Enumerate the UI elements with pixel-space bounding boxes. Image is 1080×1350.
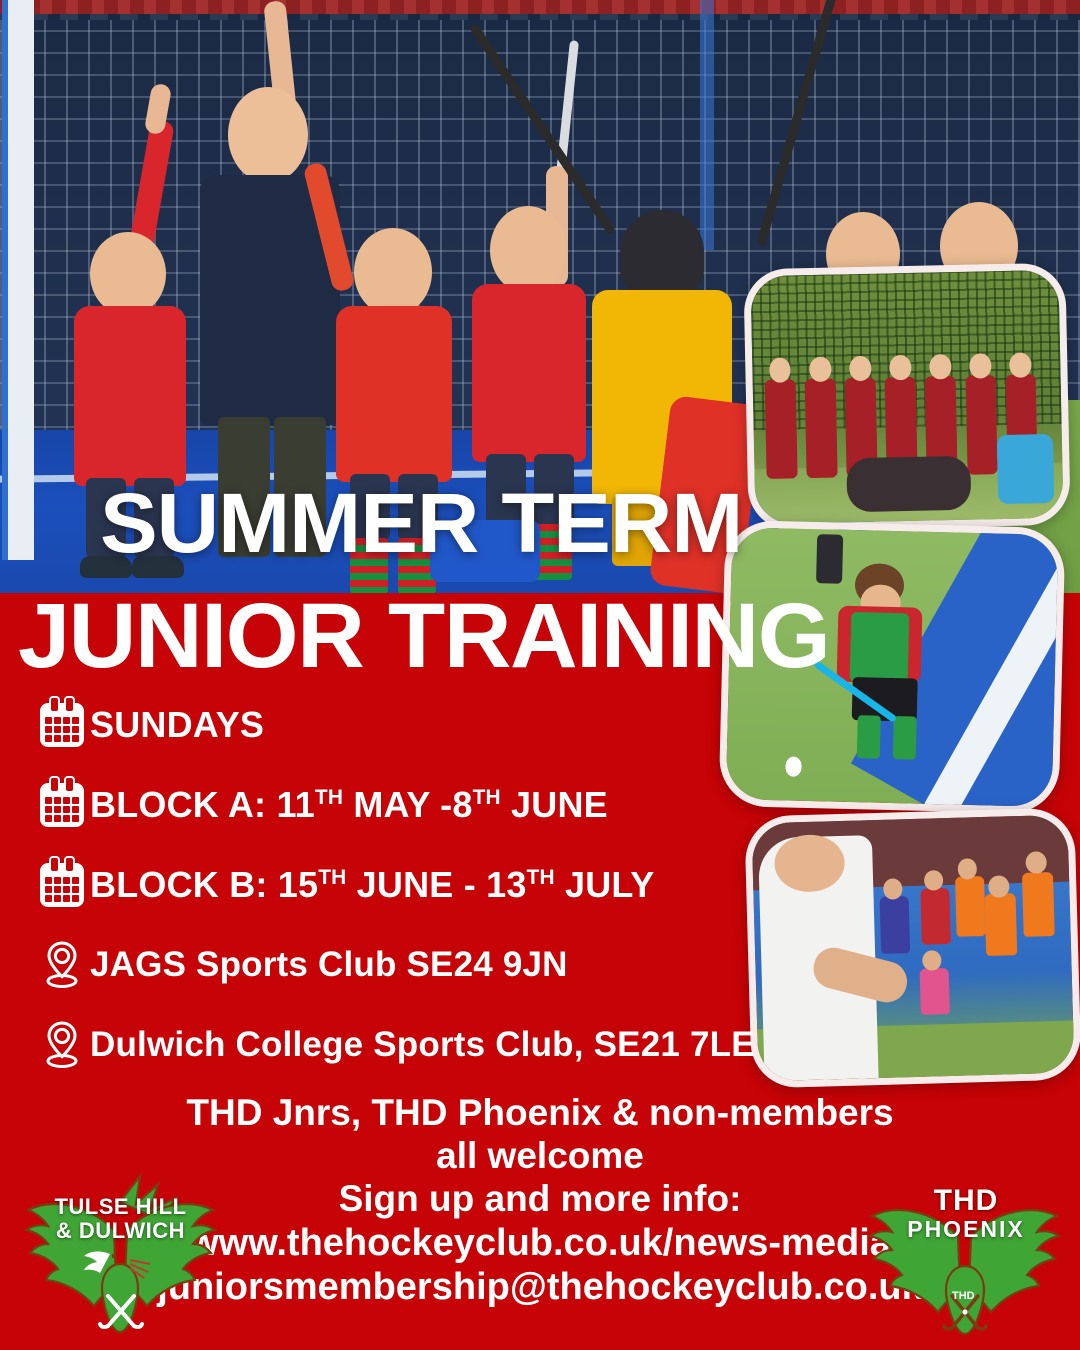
detail-row-venue-jags: JAGS Sports Club SE24 9JN — [34, 932, 794, 998]
thd-phoenix-logo: THD PHOENIX THD — [866, 1172, 1066, 1344]
logo-right-line-1: THD — [866, 1184, 1066, 1218]
logo-left-line-1: TULSE HILL — [18, 1194, 223, 1220]
tulse-hill-and-dulwich-logo: TULSE HILL & DULWICH — [18, 1168, 223, 1346]
calendar-icon — [34, 703, 90, 747]
detail-text-block-b: BLOCK B: 15TH JUNE - 13TH JULY — [90, 864, 655, 906]
location-pin-icon — [34, 939, 90, 991]
location-pin-icon — [34, 1019, 90, 1071]
logo-left-line-2: & DULWICH — [18, 1218, 223, 1244]
inset-photo-coach-session — [744, 807, 1080, 1088]
summer-term-junior-training-poster: SUMMER TERM JUNIOR TRAINING SUNDAYS BLOC… — [0, 0, 1080, 1350]
detail-text-block-a: BLOCK A: 11TH MAY -8TH JUNE — [90, 784, 608, 826]
calendar-icon — [34, 783, 90, 827]
detail-row-block-a: BLOCK A: 11TH MAY -8TH JUNE — [34, 772, 794, 838]
goal-post-white — [8, 0, 34, 560]
detail-row-sundays: SUNDAYS — [34, 692, 794, 758]
detail-row-venue-dulwich: Dulwich College Sports Club, SE21 7LE — [34, 1012, 794, 1078]
calendar-icon — [34, 863, 90, 907]
detail-text-venue-dulwich: Dulwich College Sports Club, SE21 7LE — [90, 1025, 755, 1065]
logo-right-line-2: PHOENIX — [866, 1216, 1066, 1243]
footer-line-members: THD Jnrs, THD Phoenix & non-members — [0, 1092, 1080, 1135]
headline-line-2: JUNIOR TRAINING — [18, 590, 829, 682]
details-list: SUNDAYS BLOCK A: 11TH MAY -8TH JUNE BLOC… — [34, 692, 794, 1092]
logo-right-badge: THD — [952, 1290, 975, 1302]
detail-text-venue-jags: JAGS Sports Club SE24 9JN — [90, 945, 568, 985]
detail-text-sundays: SUNDAYS — [90, 704, 264, 746]
inset-photo-girls-team — [743, 263, 1070, 532]
headline-line-1: SUMMER TERM — [100, 481, 742, 565]
detail-row-block-b: BLOCK B: 15TH JUNE - 13TH JULY — [34, 852, 794, 918]
